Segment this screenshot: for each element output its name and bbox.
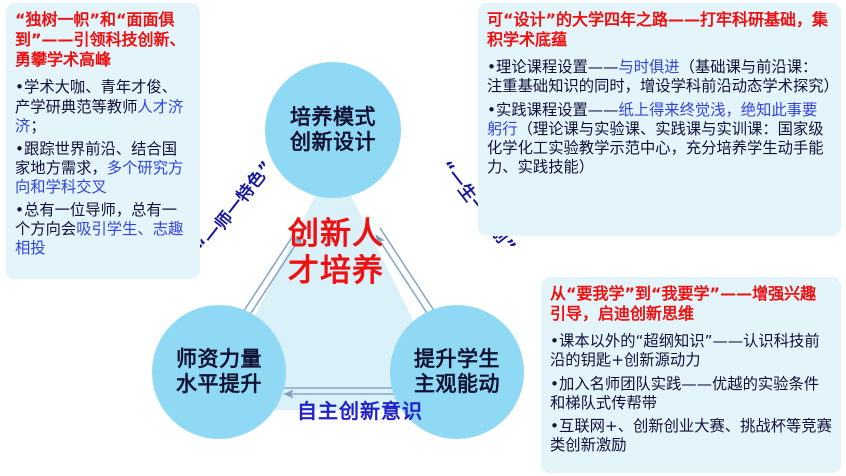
node-label-line2: 水平提升	[176, 372, 262, 397]
bullet-highlight: 与时俱进	[618, 58, 679, 76]
panel-bullet: •跟踪世界前沿、结合国家地方需求，多个研究方向和学科交叉	[15, 140, 191, 197]
connector-label-bottom: 自主创新意识	[280, 395, 440, 424]
panel-bullet: •加入名师团队实践——优越的实验条件和梯队式传帮带	[550, 375, 832, 413]
panel-bullet: •总有一位导师，总有一个方向会吸引学生、志趣相投	[15, 201, 191, 258]
panel-student-initiative: 从“要我学”到“我要学”——增强兴趣引导，启迪创新思维 •课本以外的“超纲知识”…	[541, 277, 841, 473]
bullet-suffix: （理论课与实验课、实践课与实训课：国家级化学化工实验教学示范中心，充分培养学生动…	[487, 120, 824, 176]
node-faculty-level[interactable]: 师资力量 水平提升	[152, 305, 286, 439]
diagram-center-title: 创新人才培养	[277, 216, 395, 290]
node-label-line1: 师资力量	[176, 347, 262, 372]
panel-heading: 可“设计”的大学四年之路——打牢科研基础，集积学术底蕴	[487, 10, 832, 50]
panel-heading: 从“要我学”到“我要学”——增强兴趣引导，启迪创新思维	[550, 284, 832, 324]
panel-bullet: •课本以外的“超纲知识”——认识科技前沿的钥匙+创新源动力	[550, 332, 832, 370]
node-label-line1: 培养模式	[290, 105, 376, 130]
panel-bullet: •理论课程设置——与时俱进（基础课与前沿课：注重基础知识的同时，增设学科前沿动态…	[487, 58, 832, 96]
panel-four-year-design: 可“设计”的大学四年之路——打牢科研基础，集积学术底蕴 •理论课程设置——与时俱…	[478, 3, 841, 236]
panel-bullet: •实践课程设置——纸上得来终觉浅，绝知此事要躬行（理论课与实验课、实践课与实训课…	[487, 101, 832, 177]
panel-faculty-strength: “独树一帜”和“面面俱到”——引领科技创新、勇攀学术高峰 •学术大咖、青年才俊、…	[6, 3, 200, 279]
node-label-line2: 创新设计	[290, 130, 376, 155]
bullet-suffix: ；	[30, 117, 45, 135]
panel-heading: “独树一帜”和“面面俱到”——引领科技创新、勇攀学术高峰	[15, 10, 191, 70]
panel-bullet: •互联网+、创新创业大赛、挑战杯等竞赛类创新激励	[550, 417, 832, 455]
node-label-line1: 提升学生	[414, 347, 500, 372]
panel-bullet: •学术大咖、青年才俊、产学研典范等教师人才济济；	[15, 78, 191, 135]
node-label-line2: 主观能动	[414, 372, 500, 397]
node-training-model[interactable]: 培养模式 创新设计	[265, 62, 401, 198]
bullet-text: •理论课程设置——	[487, 58, 618, 76]
bullet-text: •实践课程设置——	[487, 101, 618, 119]
